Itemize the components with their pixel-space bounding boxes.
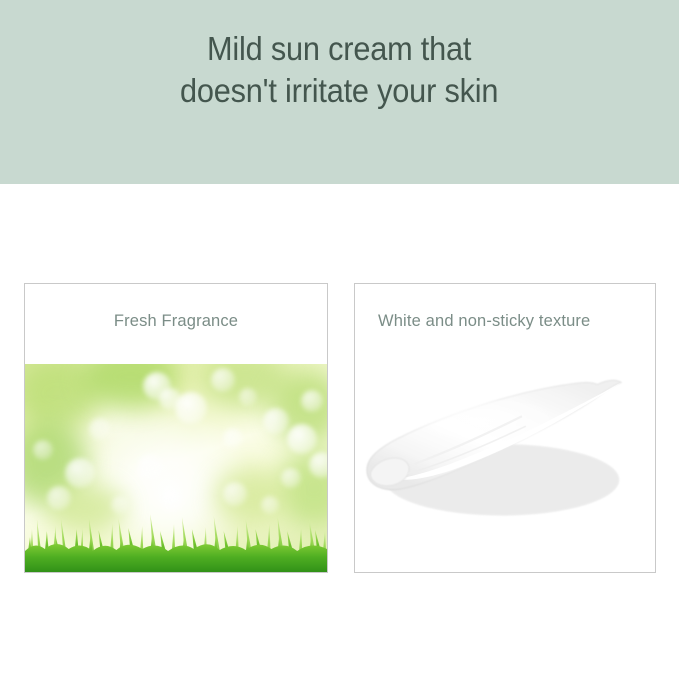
feature-card-fresh-fragrance: Fresh Fragrance — [24, 283, 328, 573]
page-title-line-2: doesn't irritate your skin — [180, 70, 498, 112]
feature-cards-row: Fresh Fragrance — [0, 283, 679, 574]
grass-illustration — [25, 511, 327, 573]
bokeh-circle — [33, 440, 53, 460]
nature-bokeh-grass-image — [25, 364, 327, 573]
page-title-line-1: Mild sun cream that — [180, 28, 498, 70]
card-label-white-texture: White and non-sticky texture — [378, 312, 590, 331]
cream-swatch-image — [355, 352, 655, 552]
bokeh-circle — [89, 418, 111, 440]
bokeh-circle — [175, 392, 207, 424]
bokeh-circle — [223, 428, 243, 448]
hero-banner: Mild sun cream that doesn't irritate you… — [0, 0, 679, 184]
bokeh-circle — [239, 388, 257, 406]
bokeh-circle — [65, 458, 95, 488]
bokeh-circle — [281, 468, 301, 488]
cream-swatch-gloss — [405, 400, 576, 460]
bokeh-circle — [263, 408, 289, 434]
grass-turf-base — [25, 544, 327, 573]
page-title: Mild sun cream that doesn't irritate you… — [180, 28, 498, 111]
card-label-fresh-fragrance: Fresh Fragrance — [25, 312, 327, 331]
bokeh-circle — [161, 490, 183, 512]
bokeh-circle — [137, 454, 163, 480]
bokeh-circle — [301, 390, 323, 412]
bokeh-circle — [47, 486, 71, 510]
bokeh-circle — [287, 424, 317, 454]
cream-swatch-illustration — [355, 352, 655, 552]
feature-card-white-texture: White and non-sticky texture — [354, 283, 656, 573]
bokeh-circle — [211, 368, 235, 392]
bokeh-circle — [223, 482, 247, 506]
